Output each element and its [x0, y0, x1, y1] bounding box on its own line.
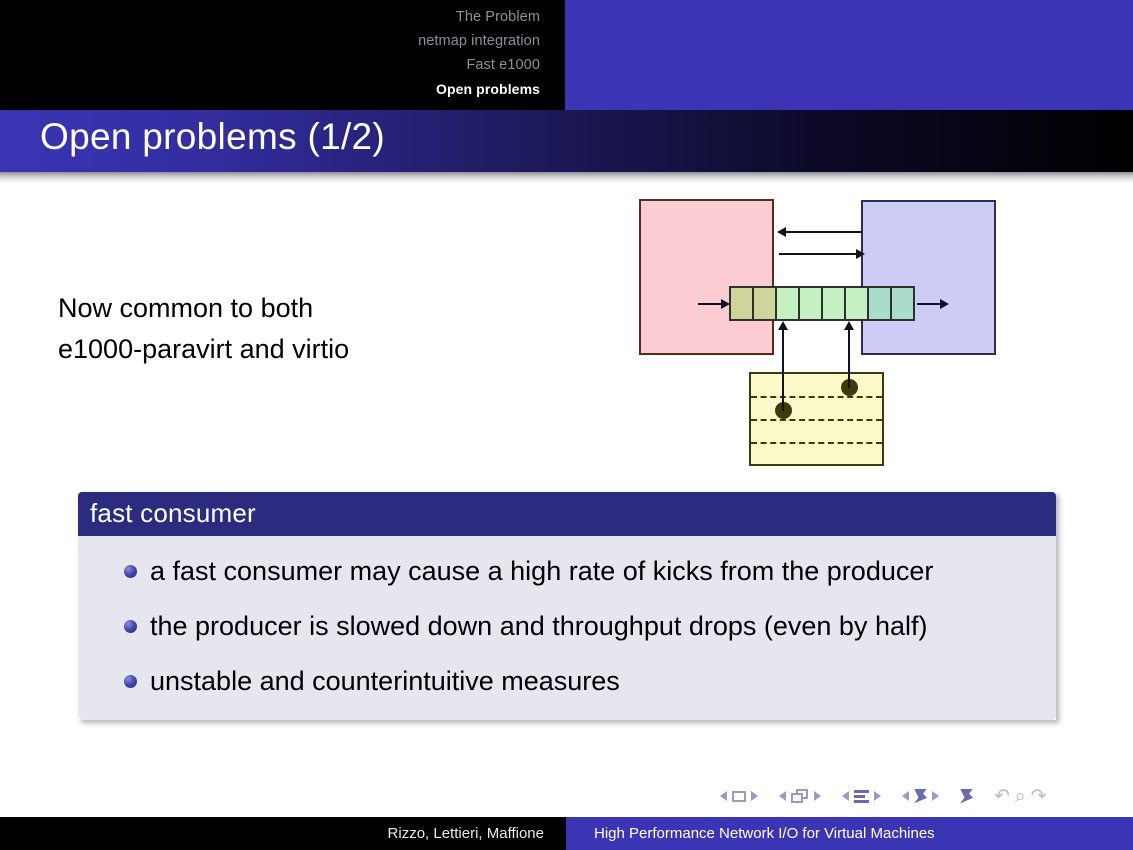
block-title: fast consumer — [78, 492, 1056, 536]
producer-input-arrow-line — [698, 303, 722, 305]
search-icon[interactable]: ⌕ — [1015, 787, 1026, 806]
block-body: a fast consumer may cause a high rate of… — [78, 536, 1056, 720]
forward-icon[interactable]: ↷ — [1031, 787, 1047, 806]
prev-section-icon[interactable] — [902, 791, 909, 801]
footer-author-panel: Rizzo, Lettieri, Maffione — [0, 817, 566, 850]
memory-divider-line — [751, 442, 882, 444]
footer-bar: Rizzo, Lettieri, Maffione High Performan… — [0, 817, 1133, 850]
ring-slot — [846, 288, 869, 319]
footer-talk-title: High Performance Network I/O for Virtual… — [594, 825, 935, 842]
producer-pointer-arrow-head — [778, 321, 788, 330]
producer-pointer-arrow-line — [782, 327, 784, 411]
list-item: a fast consumer may cause a high rate of… — [102, 550, 1032, 592]
page-title: Open problems (1/2) — [40, 116, 385, 158]
list-item-text: unstable and counterintuitive measures — [150, 666, 620, 696]
subsection-icon[interactable] — [854, 790, 869, 803]
notify-left-arrow-line — [785, 231, 863, 233]
ring-slot — [869, 288, 892, 319]
bullet-list: a fast consumer may cause a high rate of… — [102, 550, 1032, 702]
navigation-bar: The Problem netmap integration Fast e100… — [0, 0, 1133, 110]
ring-slot — [777, 288, 800, 319]
nav-item-the-problem[interactable]: The Problem — [20, 9, 540, 25]
consumer-output-arrow-head — [940, 299, 949, 309]
frame-icon[interactable] — [791, 789, 809, 803]
list-item-text: a fast consumer may cause a high rate of… — [150, 556, 933, 586]
list-item-text: the producer is slowed down and throughp… — [150, 611, 927, 641]
ring-slot — [731, 288, 754, 319]
fast-consumer-block: fast consumer a fast consumer may cause … — [78, 492, 1056, 720]
slide-icon[interactable] — [732, 791, 746, 802]
title-bar-shadow — [0, 172, 1133, 184]
ring-slot — [892, 288, 913, 319]
next-section-icon[interactable] — [932, 791, 939, 801]
consumer-output-arrow-line — [917, 303, 941, 305]
doc-icon[interactable] — [960, 789, 973, 804]
footer-authors: Rizzo, Lettieri, Maffione — [388, 825, 544, 842]
host-box — [861, 200, 996, 355]
guest-box — [639, 199, 774, 355]
prev-subsection-icon[interactable] — [842, 791, 849, 801]
nav-item-open-problems[interactable]: Open problems — [20, 81, 540, 97]
beamer-navigation-symbols[interactable]: ↶ ⌕ ↷ — [720, 783, 1110, 809]
ring-slot — [754, 288, 777, 319]
notify-right-arrow-head — [856, 249, 865, 259]
memory-divider-line — [751, 396, 882, 398]
next-slide-icon[interactable] — [751, 791, 758, 801]
prev-frame-icon[interactable] — [779, 791, 786, 801]
memory-divider-line — [751, 419, 882, 421]
back-icon[interactable]: ↶ — [994, 787, 1010, 806]
list-item: unstable and counterintuitive measures — [102, 660, 1032, 702]
producer-input-arrow-head — [721, 299, 730, 309]
lead-line-1: Now common to both — [58, 288, 488, 329]
shared-memory-box — [749, 372, 884, 466]
notify-right-arrow-line — [779, 253, 857, 255]
consumer-pointer-arrow-head — [844, 321, 854, 330]
ring-slot — [800, 288, 823, 319]
lead-paragraph: Now common to both e1000-paravirt and vi… — [58, 288, 488, 370]
bullet-dot-icon — [124, 675, 137, 688]
bullet-dot-icon — [124, 620, 137, 633]
consumer-pointer-arrow-line — [848, 327, 850, 388]
nav-item-netmap-integration[interactable]: netmap integration — [20, 33, 540, 49]
next-frame-icon[interactable] — [814, 791, 821, 801]
producer-consumer-diagram — [620, 190, 1020, 480]
section-icon[interactable] — [914, 789, 927, 804]
lead-line-2: e1000-paravirt and virtio — [58, 329, 488, 370]
ring-buffer-strip — [729, 286, 915, 321]
navigation-bar-left-panel: The Problem netmap integration Fast e100… — [0, 0, 565, 110]
notify-left-arrow-head — [777, 227, 786, 237]
next-subsection-icon[interactable] — [874, 791, 881, 801]
nav-item-fast-e1000[interactable]: Fast e1000 — [20, 57, 540, 73]
prev-slide-icon[interactable] — [720, 791, 727, 801]
ring-slot — [823, 288, 846, 319]
frame-title-bar: Open problems (1/2) — [0, 110, 1133, 172]
bullet-dot-icon — [124, 565, 137, 578]
list-item: the producer is slowed down and throughp… — [102, 605, 1032, 647]
